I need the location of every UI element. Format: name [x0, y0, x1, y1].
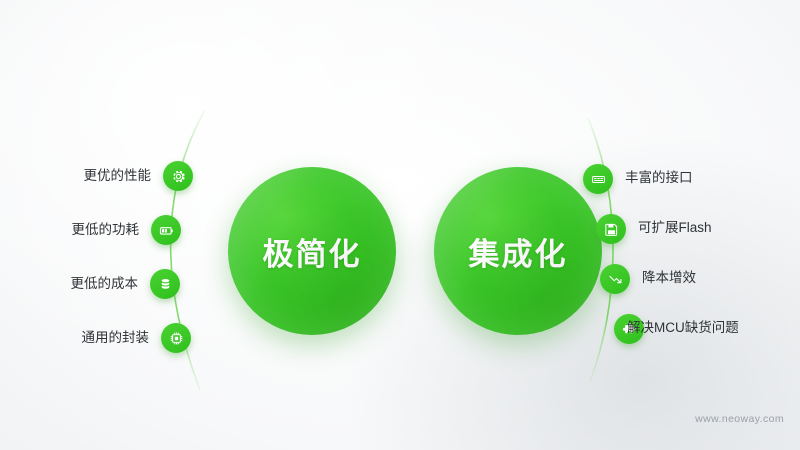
hub-circle-integrate[interactable]: 集成化 [434, 167, 602, 335]
ports-icon [590, 171, 607, 188]
node-coin-stack[interactable] [150, 269, 180, 299]
label-left-3: 通用的封装 [44, 326, 149, 346]
label-left-1: 更低的功耗 [34, 218, 139, 238]
hub-label-simplify: 极简化 [263, 229, 362, 274]
save-disk-icon [603, 221, 620, 238]
coin-stack-icon [157, 276, 174, 293]
hub-label-integrate: 集成化 [469, 229, 568, 274]
gear-icon [170, 168, 187, 185]
battery-icon [158, 222, 175, 239]
node-ports[interactable] [583, 164, 613, 194]
label-left-0: 更优的性能 [46, 164, 151, 184]
label-right-1: 可扩展Flash [638, 216, 712, 236]
chip-icon [168, 330, 185, 347]
label-right-3: 解决MCU缺货问题 [627, 316, 739, 336]
label-right-2: 降本增效 [642, 266, 696, 286]
label-right-0: 丰富的接口 [625, 166, 693, 186]
slide-canvas: 极简化 集成化 更优的性能 更低的功耗 [0, 0, 800, 450]
node-save-disk[interactable] [596, 214, 626, 244]
label-left-2: 更低的成本 [33, 272, 138, 292]
node-trend-down[interactable] [600, 264, 630, 294]
trend-down-icon [607, 271, 624, 288]
hub-circle-simplify[interactable]: 极简化 [228, 167, 396, 335]
node-chip[interactable] [161, 323, 191, 353]
node-battery[interactable] [151, 215, 181, 245]
watermark: www.neoway.com [695, 413, 784, 425]
node-gear[interactable] [163, 161, 193, 191]
